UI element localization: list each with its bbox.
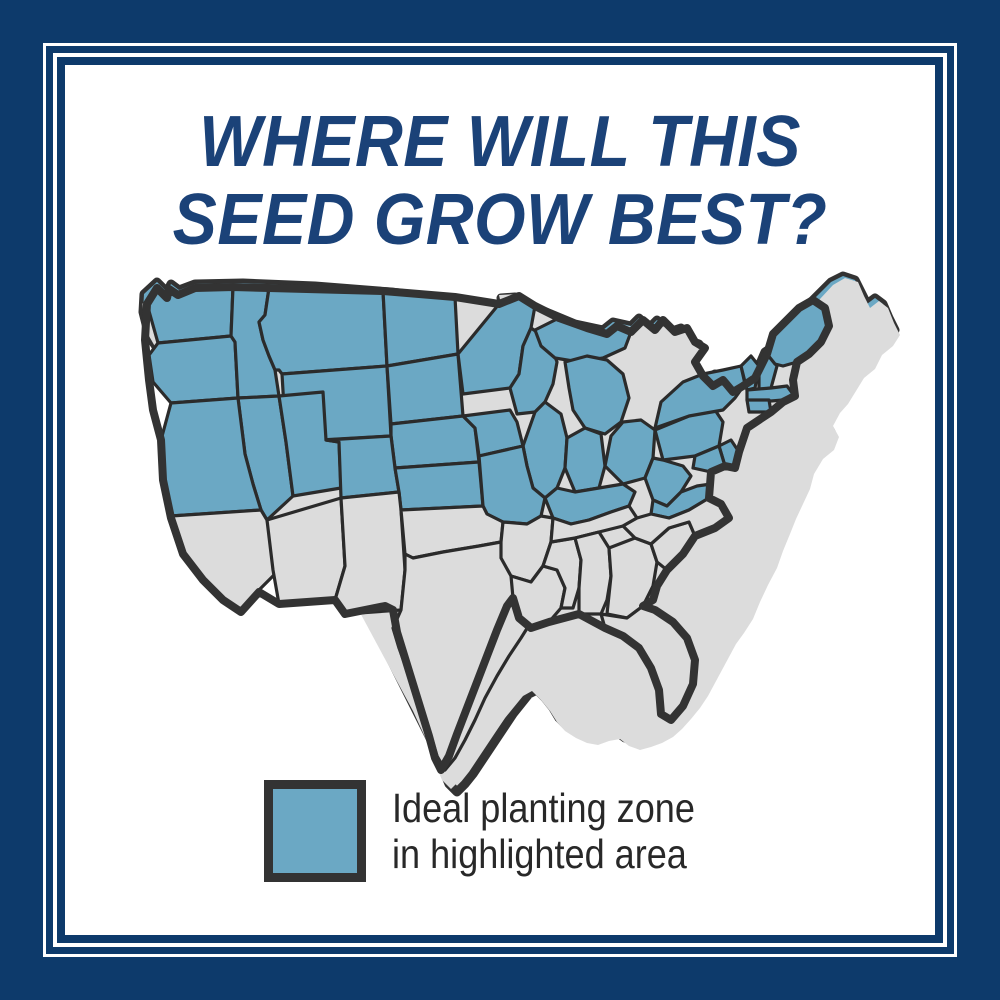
state-nebraska [391,416,479,468]
state-montana [259,288,387,374]
page-title: WHERE WILL THIS SEED GROW BEST? [65,103,935,259]
poster-canvas: WHERE WILL THIS SEED GROW BEST? [65,65,935,935]
map-legend: Ideal planting zone in highlighted area [65,780,935,882]
us-map [83,270,921,798]
state-south-dakota [387,354,463,424]
legend-swatch-ideal-zone [264,780,366,882]
legend-label-line-1: Ideal planting zone [392,785,695,831]
state-new-mexico [335,492,405,614]
state-alabama [575,532,611,614]
state-indiana [565,428,605,492]
title-line-2: SEED GROW BEST? [100,181,900,259]
state-oregon [149,336,238,403]
legend-label: Ideal planting zone in highlighted area [392,785,695,877]
title-line-1: WHERE WILL THIS [100,103,900,181]
poster-root: WHERE WILL THIS SEED GROW BEST? [0,0,1000,1000]
state-kansas [395,462,483,510]
us-map-svg [83,270,921,798]
legend-label-line-2: in highlighted area [392,831,695,877]
